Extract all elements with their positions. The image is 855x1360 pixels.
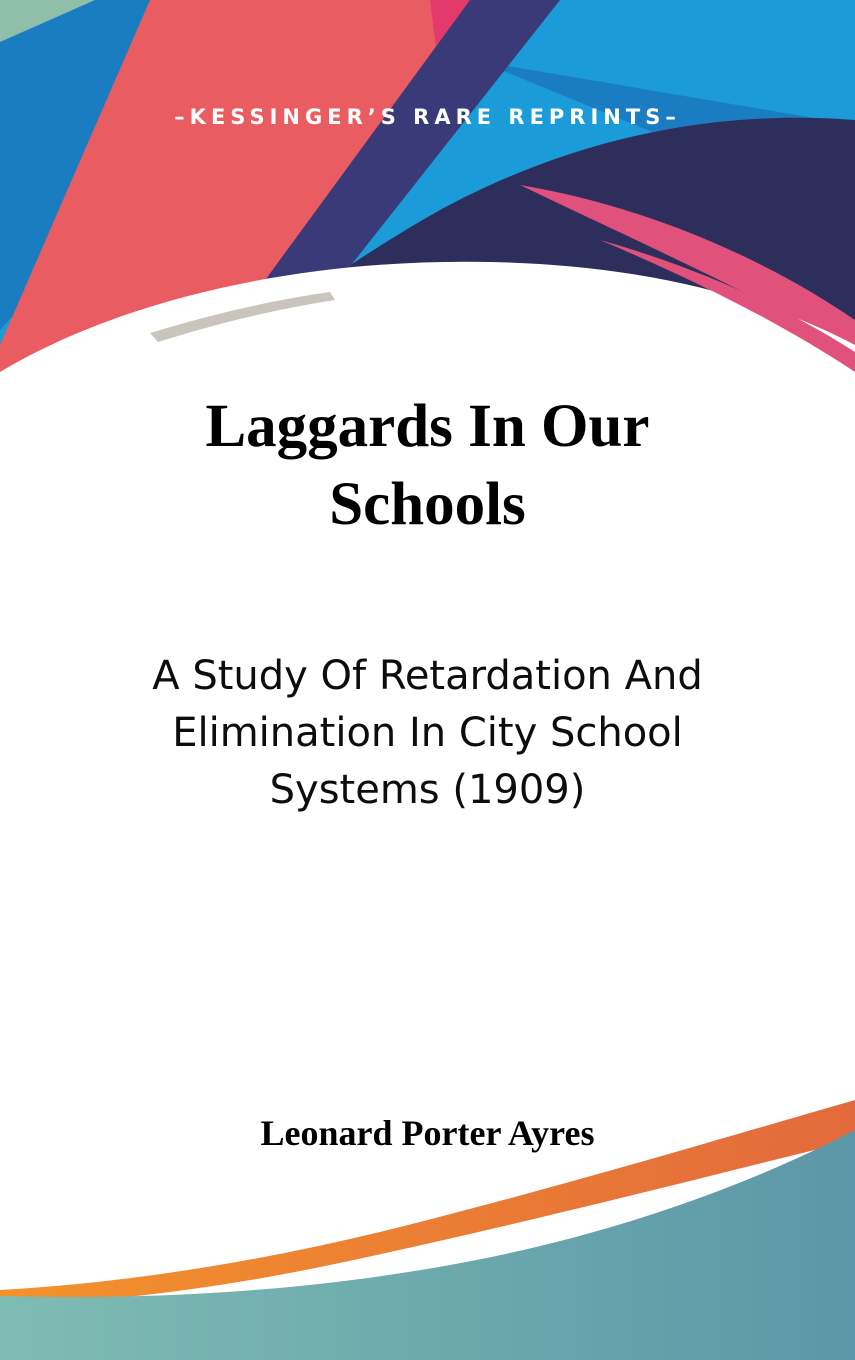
page-subtitle: A Study Of Retardation And Elimination I… bbox=[0, 648, 855, 818]
top-ribbon-artwork bbox=[0, 0, 855, 400]
author-name: Leonard Porter Ayres bbox=[0, 1112, 855, 1154]
page-title: Laggards In Our Schools bbox=[0, 388, 855, 544]
book-cover: –KESSINGER’S RARE REPRINTS– Laggards In … bbox=[0, 0, 855, 1360]
imprint-label: –KESSINGER’S RARE REPRINTS– bbox=[0, 105, 855, 129]
